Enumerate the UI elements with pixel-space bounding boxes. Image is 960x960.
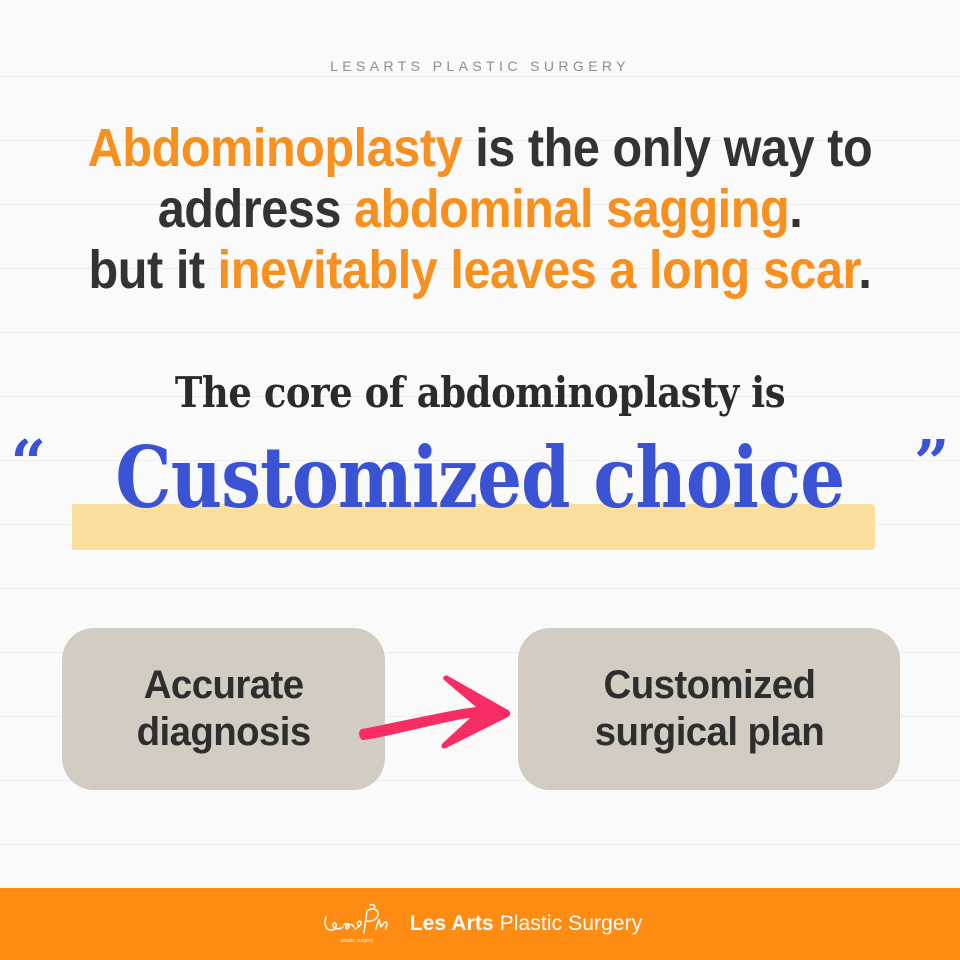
headline-line-2: address abdominal sagging.: [48, 179, 912, 240]
footer-brand-tagline: Plastic Surgery: [494, 912, 643, 935]
headline-line-2-lead: address: [158, 179, 354, 239]
footer-brand-text: Les Arts Plastic Surgery: [410, 912, 643, 936]
flow-box-customized-surgical-plan: Customized surgical plan: [518, 628, 900, 790]
logo-subtext: plastic surgery: [341, 938, 374, 944]
headline-line-3-period: .: [858, 240, 871, 300]
flow-diagram: Accurate diagnosis Customized surgical p…: [0, 628, 960, 790]
sub-headline: The core of abdominoplasty is: [58, 368, 903, 417]
quote-row: “Customized choice”: [0, 428, 960, 528]
close-quote-icon: ”: [914, 426, 950, 499]
brand-eyebrow: LESARTS PLASTIC SURGERY: [0, 58, 960, 74]
open-quote-icon: “: [10, 426, 46, 499]
headline-line-3: but it inevitably leaves a long scar.: [48, 240, 912, 301]
quote-text: Customized choice: [116, 428, 845, 528]
headline-line-1: Abdominoplasty is the only way to: [48, 118, 912, 179]
poster-page: LESARTS PLASTIC SURGERY Abdominoplasty i…: [0, 0, 960, 960]
footer-brand-name: Les Arts: [410, 912, 494, 935]
headline: Abdominoplasty is the only way to addres…: [48, 118, 912, 301]
flow-box-accurate-diagnosis: Accurate diagnosis: [62, 628, 385, 790]
headline-line-3-lead: but it: [89, 240, 218, 300]
headline-highlight-abdominoplasty: Abdominoplasty: [88, 118, 462, 178]
headline-line-1-rest: is the only way to: [462, 118, 872, 178]
headline-highlight-long-scar: inevitably leaves a long scar: [218, 240, 859, 300]
lesarts-logo-icon: plastic surgery: [318, 903, 396, 947]
headline-line-2-period: .: [789, 179, 802, 239]
right-arrow-icon: [358, 666, 518, 756]
quote-block: “Customized choice”: [0, 428, 960, 563]
flow-box-left-label: Accurate diagnosis: [136, 662, 310, 756]
footer-bar: plastic surgery Les Arts Plastic Surgery: [0, 888, 960, 960]
flow-box-right-label: Customized surgical plan: [594, 662, 823, 756]
headline-highlight-abdominal-sagging: abdominal sagging: [354, 179, 789, 239]
